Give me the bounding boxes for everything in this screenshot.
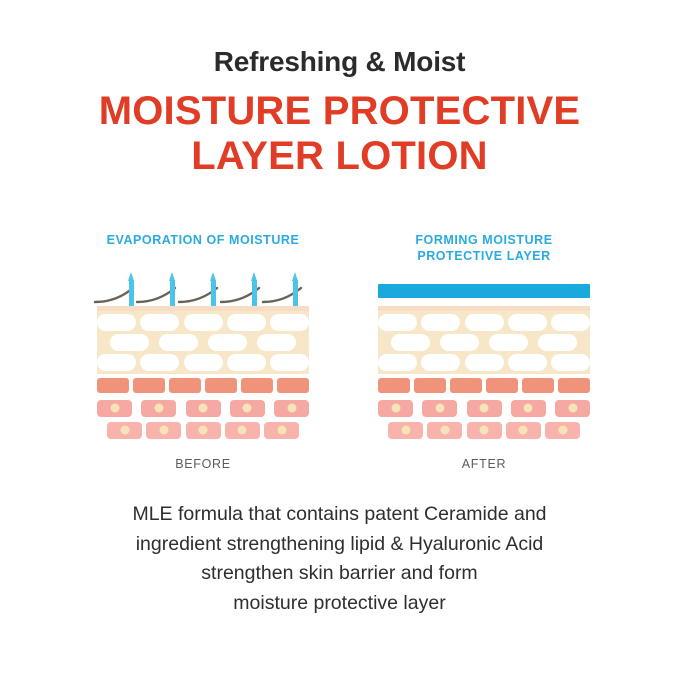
granular-cell — [522, 378, 554, 393]
basal-cell — [467, 422, 502, 439]
corneum-brick — [159, 334, 198, 351]
corneum-brick — [538, 334, 577, 351]
basal-cell — [545, 422, 580, 439]
evaporation-arrow-icon — [292, 272, 299, 306]
cell-nucleus — [524, 404, 533, 413]
spinosum-cell — [230, 400, 265, 417]
cell-nucleus — [401, 426, 410, 435]
corneum-brick-row — [378, 314, 590, 331]
cell-nucleus — [440, 426, 449, 435]
basal-cell — [506, 422, 541, 439]
corneum-brick — [489, 334, 528, 351]
basal-cell — [186, 422, 221, 439]
corneum-brick — [551, 314, 590, 331]
corneum-brick — [97, 314, 136, 331]
corneum-brick-row — [378, 354, 590, 371]
corneum-brick — [270, 314, 309, 331]
cell-nucleus — [110, 404, 119, 413]
corneum-brick-row — [97, 354, 309, 371]
corneum-brick — [421, 354, 460, 371]
spinosum-cell — [97, 400, 132, 417]
cell-nucleus — [391, 404, 400, 413]
cell-nucleus — [159, 426, 168, 435]
after-caption: AFTER — [378, 457, 590, 471]
skin-cross-section-before — [97, 306, 309, 441]
eyebrow-text: Refreshing & Moist — [0, 46, 679, 78]
granular-layer — [378, 378, 590, 397]
cell-nucleus — [277, 426, 286, 435]
stratum-corneum-layer — [378, 311, 590, 374]
corneum-brick — [140, 354, 179, 371]
evaporation-arrow-icon — [169, 272, 176, 306]
moisture-barrier-bar — [378, 284, 590, 298]
granular-cell — [450, 378, 482, 393]
corneum-brick — [184, 314, 223, 331]
protective-layer-zone — [378, 268, 590, 306]
cell-nucleus — [287, 404, 296, 413]
basal-cell — [225, 422, 260, 439]
basal-layer — [378, 419, 590, 441]
corneum-brick — [227, 314, 266, 331]
cell-nucleus — [120, 426, 129, 435]
before-label-line-1: EVAPORATION OF MOISTURE — [97, 232, 309, 248]
after-label-line-2: PROTECTIVE LAYER — [378, 248, 590, 264]
description-line-1: MLE formula that contains patent Ceramid… — [0, 500, 679, 530]
corneum-brick — [257, 334, 296, 351]
granular-cell — [133, 378, 165, 393]
cell-nucleus — [568, 404, 577, 413]
description-line-4: moisture protective layer — [0, 589, 679, 619]
corneum-brick — [378, 354, 417, 371]
corneum-brick — [227, 354, 266, 371]
granular-cell — [486, 378, 518, 393]
basal-cell — [107, 422, 142, 439]
spinosum-cell — [467, 400, 502, 417]
panel-before: EVAPORATION OF MOISTURE — [97, 232, 309, 471]
cell-nucleus — [480, 404, 489, 413]
panel-after: FORMING MOISTURE PROTECTIVE LAYER — [378, 232, 590, 471]
cell-nucleus — [154, 404, 163, 413]
evaporation-arrow-icon — [251, 272, 258, 306]
corneum-brick — [465, 314, 504, 331]
corneum-brick — [110, 334, 149, 351]
granular-cell — [558, 378, 590, 393]
granular-cell — [241, 378, 273, 393]
cell-nucleus — [199, 404, 208, 413]
spinosum-cell — [141, 400, 176, 417]
corneum-brick — [551, 354, 590, 371]
cell-nucleus — [238, 426, 247, 435]
heading-block: Refreshing & Moist MOISTURE PROTECTIVE L… — [0, 46, 679, 179]
corneum-brick-row — [97, 314, 309, 331]
corneum-brick-row — [97, 334, 309, 351]
stratum-corneum-layer — [97, 311, 309, 374]
corneum-brick — [208, 334, 247, 351]
infographic-page: Refreshing & Moist MOISTURE PROTECTIVE L… — [0, 0, 679, 679]
cell-nucleus — [435, 404, 444, 413]
after-label-line-1: FORMING MOISTURE — [378, 232, 590, 248]
cell-nucleus — [243, 404, 252, 413]
basal-cell — [388, 422, 423, 439]
spinosum-cell — [378, 400, 413, 417]
comparison-diagrams: EVAPORATION OF MOISTURE — [0, 232, 679, 464]
corneum-brick — [184, 354, 223, 371]
description-line-3: strengthen skin barrier and form — [0, 559, 679, 589]
evaporation-zone — [97, 268, 309, 306]
description-line-2: ingredient strengthening lipid & Hyaluro… — [0, 530, 679, 560]
spinosum-layer — [378, 397, 590, 419]
corneum-brick — [140, 314, 179, 331]
granular-cell — [205, 378, 237, 393]
spinosum-cell — [555, 400, 590, 417]
corneum-brick — [508, 314, 547, 331]
spinosum-cell — [274, 400, 309, 417]
corneum-brick — [465, 354, 504, 371]
after-label: FORMING MOISTURE PROTECTIVE LAYER — [378, 232, 590, 268]
corneum-brick — [421, 314, 460, 331]
title-line-2: LAYER LOTION — [0, 134, 679, 179]
spinosum-cell — [186, 400, 221, 417]
granular-cell — [378, 378, 410, 393]
spinosum-layer — [97, 397, 309, 419]
cell-nucleus — [558, 426, 567, 435]
corneum-brick — [270, 354, 309, 371]
description-paragraph: MLE formula that contains patent Ceramid… — [0, 500, 679, 619]
granular-cell — [277, 378, 309, 393]
cell-nucleus — [519, 426, 528, 435]
granular-cell — [414, 378, 446, 393]
granular-cell — [169, 378, 201, 393]
corneum-brick — [440, 334, 479, 351]
corneum-brick — [508, 354, 547, 371]
skin-cross-section-after — [378, 306, 590, 441]
cell-nucleus — [199, 426, 208, 435]
corneum-brick — [391, 334, 430, 351]
page-title: MOISTURE PROTECTIVE LAYER LOTION — [0, 89, 679, 179]
evaporation-arrow-icon — [128, 272, 135, 306]
granular-layer — [97, 378, 309, 397]
corneum-brick — [378, 314, 417, 331]
basal-cell — [264, 422, 299, 439]
corneum-brick-row — [378, 334, 590, 351]
before-caption: BEFORE — [97, 457, 309, 471]
basal-cell — [146, 422, 181, 439]
basal-layer — [97, 419, 309, 441]
evaporation-arrow-icon — [210, 272, 217, 306]
spinosum-cell — [511, 400, 546, 417]
granular-cell — [97, 378, 129, 393]
cell-nucleus — [480, 426, 489, 435]
corneum-brick — [97, 354, 136, 371]
title-line-1: MOISTURE PROTECTIVE — [0, 89, 679, 134]
before-label: EVAPORATION OF MOISTURE — [97, 232, 309, 268]
basal-cell — [427, 422, 462, 439]
spinosum-cell — [422, 400, 457, 417]
